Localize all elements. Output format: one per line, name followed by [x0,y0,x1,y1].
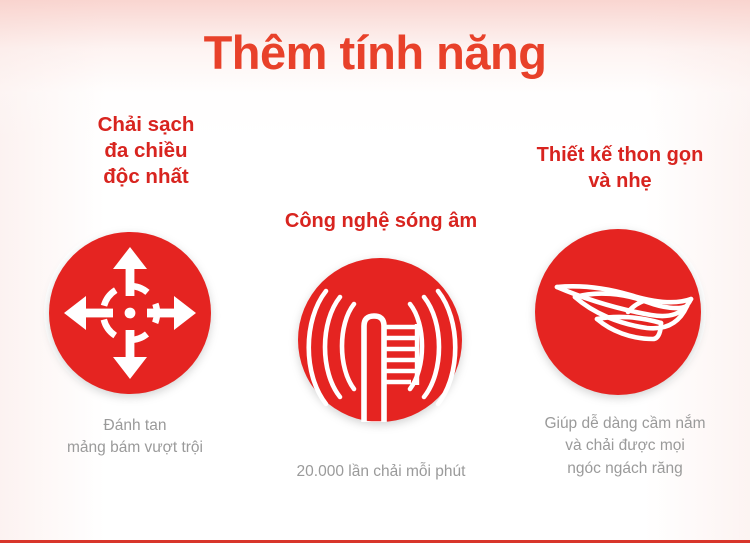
feature-caption-multi-direction: Đánh tan mảng bám vượt trội [30,415,240,460]
toothbrush-sonic-waves-icon [298,258,462,422]
feature-label-slim-design: Thiết kế thon gọn và nhẹ [496,143,744,194]
four-way-arrows-icon [49,232,211,394]
feature-caption-slim-design: Giúp dễ dàng cầm nắm và chải được mọi ng… [503,413,747,480]
feature-icon-circle-sonic-technology [298,258,462,422]
feature-caption-sonic-technology: 20.000 lần chải mỗi phút [263,461,499,483]
feather-icon [535,229,701,395]
feature-icon-circle-slim-design [535,229,701,395]
page-title: Thêm tính năng [0,28,750,77]
feature-label-sonic-technology: Công nghệ sóng âm [258,209,504,235]
feature-label-multi-direction: Chải sạch đa chiều độc nhất [36,112,256,191]
feature-poster: Thêm tính năng Chải sạch đa chiều độc nh… [0,0,750,543]
feature-icon-circle-multi-direction [49,232,211,394]
